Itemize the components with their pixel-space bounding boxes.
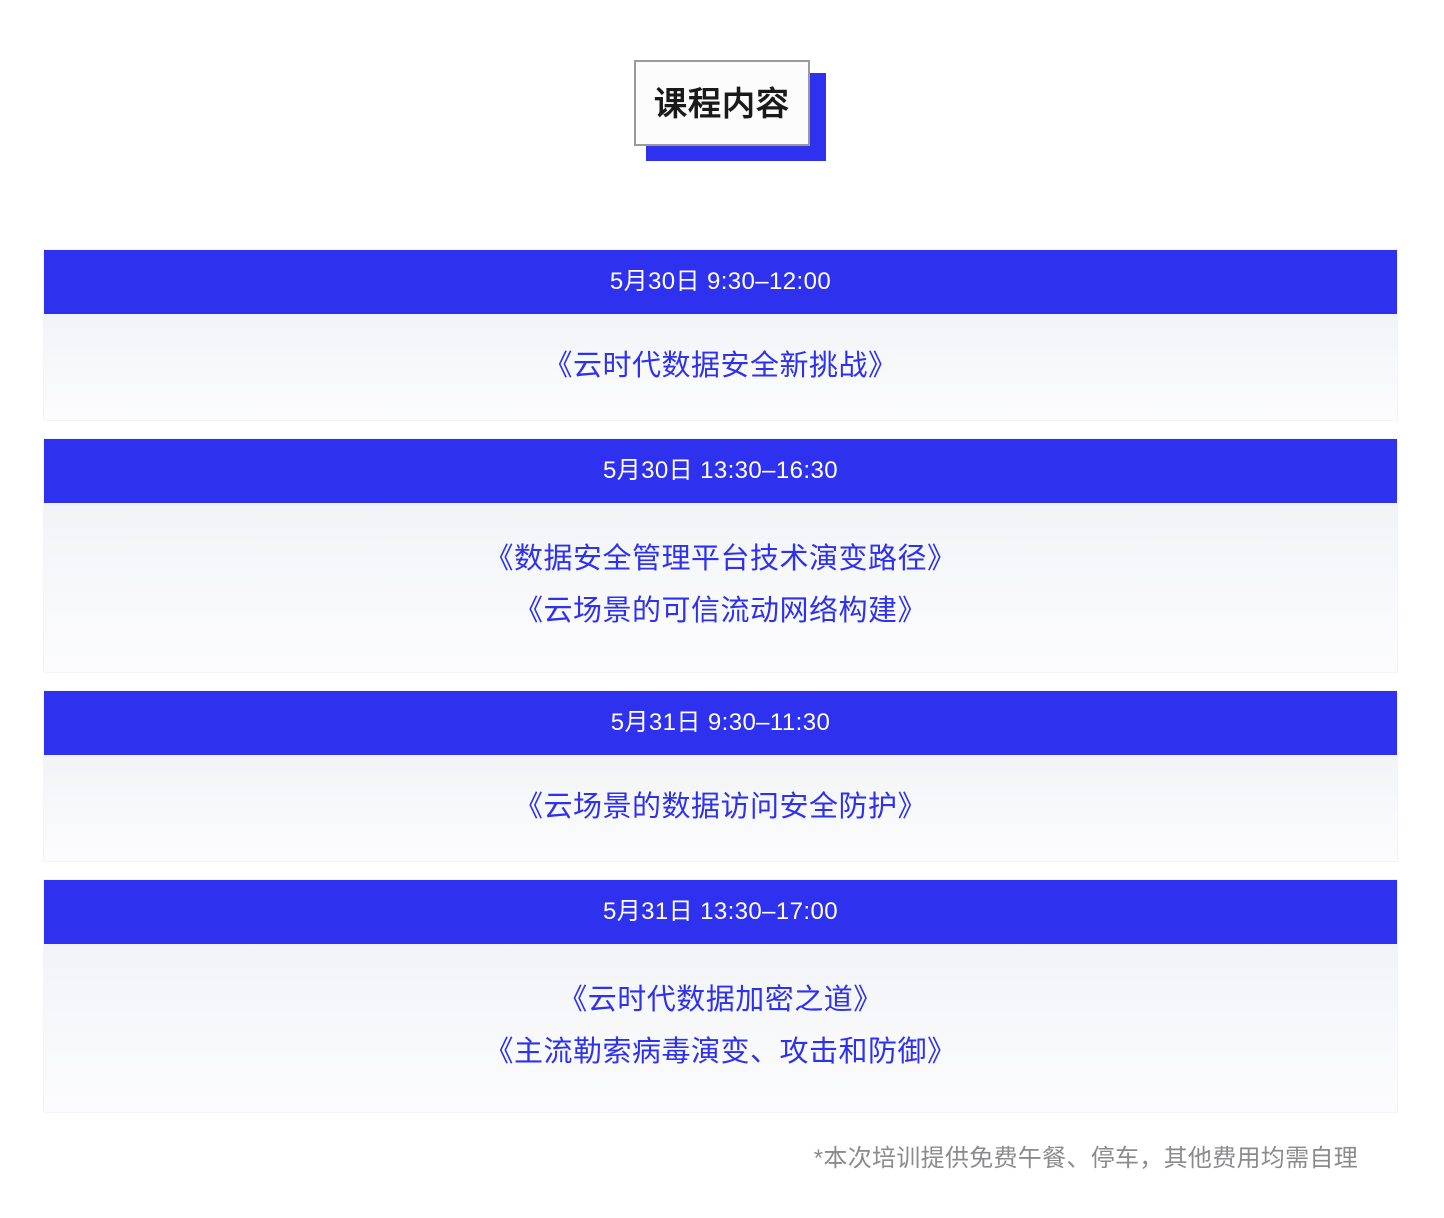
schedule-card-body: 《数据安全管理平台技术演变路径》 《云场景的可信流动网络构建》 bbox=[44, 503, 1397, 671]
schedule-card: 5月30日 13:30–16:30 《数据安全管理平台技术演变路径》 《云场景的… bbox=[44, 439, 1397, 671]
schedule-card-header: 5月30日 9:30–12:00 bbox=[44, 250, 1397, 314]
schedule-card: 5月30日 9:30–12:00 《云时代数据安全新挑战》 bbox=[44, 250, 1397, 420]
schedule-card-body: 《云时代数据安全新挑战》 bbox=[44, 314, 1397, 420]
course-content-page: 课程内容 5月30日 9:30–12:00 《云时代数据安全新挑战》 5月30日… bbox=[0, 0, 1444, 1218]
schedule-list: 5月30日 9:30–12:00 《云时代数据安全新挑战》 5月30日 13:3… bbox=[44, 250, 1397, 1112]
footnote-text: *本次培训提供免费午餐、停车，其他费用均需自理 bbox=[814, 1143, 1358, 1174]
session-time: 5月31日 9:30–11:30 bbox=[611, 711, 830, 735]
session-time: 5月30日 9:30–12:00 bbox=[610, 270, 831, 294]
session-time: 5月30日 13:30–16:30 bbox=[603, 459, 838, 483]
course-title: 《云时代数据安全新挑战》 bbox=[543, 349, 897, 383]
course-title: 《云场景的可信流动网络构建》 bbox=[514, 594, 927, 628]
course-title: 《数据安全管理平台技术演变路径》 bbox=[484, 542, 956, 576]
section-title-badge: 课程内容 bbox=[634, 60, 826, 162]
schedule-card-body: 《云时代数据加密之道》 《主流勒索病毒演变、攻击和防御》 bbox=[44, 944, 1397, 1112]
schedule-card-header: 5月30日 13:30–16:30 bbox=[44, 439, 1397, 503]
page-title: 课程内容 bbox=[654, 87, 790, 120]
course-title: 《云时代数据加密之道》 bbox=[558, 983, 883, 1017]
section-title-box: 课程内容 bbox=[634, 60, 810, 146]
schedule-card-body: 《云场景的数据访问安全防护》 bbox=[44, 755, 1397, 861]
schedule-card-header: 5月31日 13:30–17:00 bbox=[44, 880, 1397, 944]
session-time: 5月31日 13:30–17:00 bbox=[603, 900, 838, 924]
course-title: 《云场景的数据访问安全防护》 bbox=[514, 790, 927, 824]
schedule-card: 5月31日 9:30–11:30 《云场景的数据访问安全防护》 bbox=[44, 691, 1397, 861]
course-title: 《主流勒索病毒演变、攻击和防御》 bbox=[484, 1035, 956, 1069]
schedule-card: 5月31日 13:30–17:00 《云时代数据加密之道》 《主流勒索病毒演变、… bbox=[44, 880, 1397, 1112]
schedule-card-header: 5月31日 9:30–11:30 bbox=[44, 691, 1397, 755]
